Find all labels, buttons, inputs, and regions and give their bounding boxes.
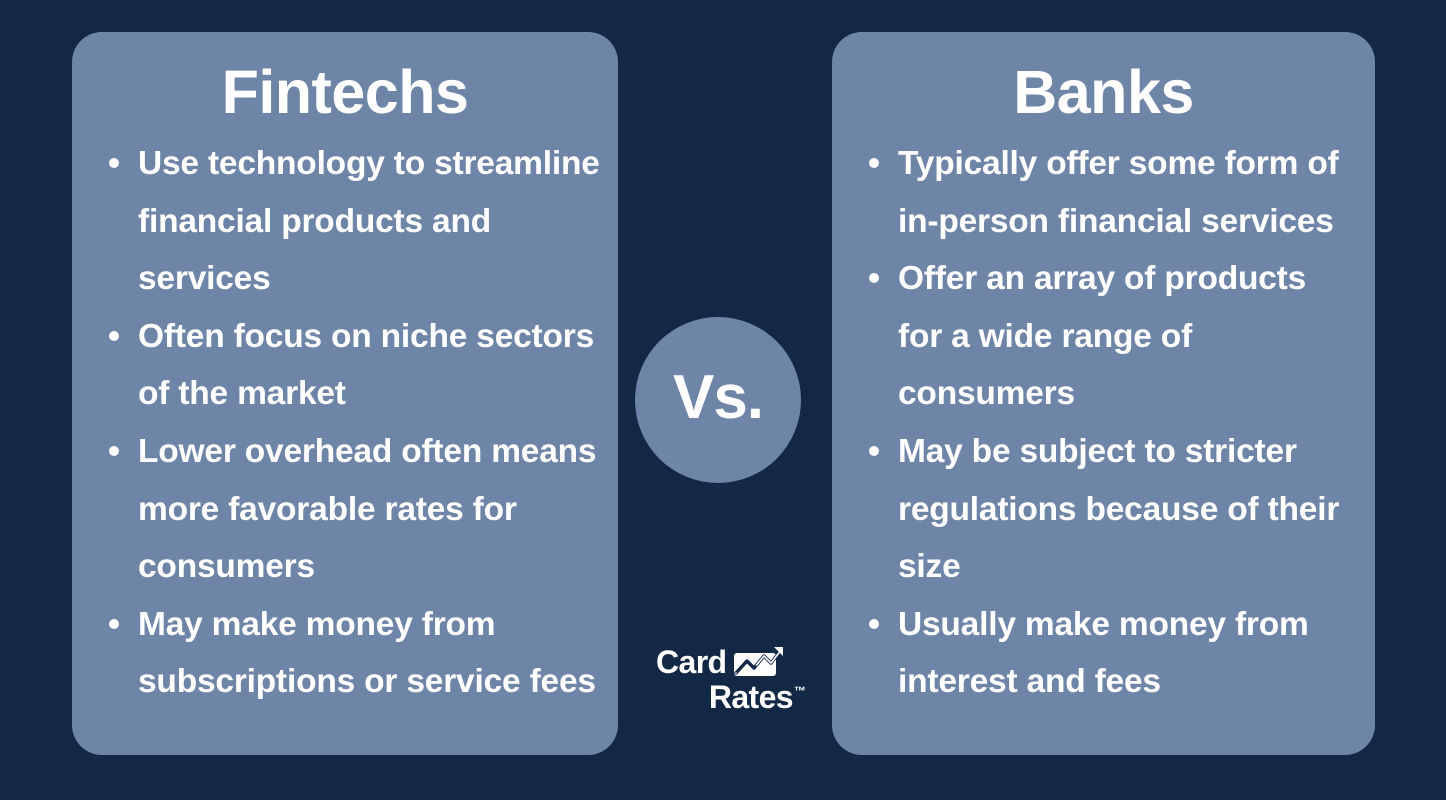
comparison-card-fintechs: Fintechs Use technology to streamline fi… xyxy=(72,32,618,755)
bullet-dot-icon xyxy=(869,619,879,629)
list-item-label: Lower overhead often means more favorabl… xyxy=(138,433,596,585)
chart-uptrend-icon xyxy=(733,645,785,679)
list-item-label: Use technology to streamline financial p… xyxy=(138,145,600,297)
bullet-dot-icon xyxy=(869,446,879,456)
logo-line-top: Card xyxy=(656,645,806,679)
list-item: Use technology to streamline financial p… xyxy=(90,135,600,308)
bullet-dot-icon xyxy=(109,158,119,168)
list-item-label: Typically offer some form of in-person f… xyxy=(898,145,1339,240)
list-item-label: May make money from subscriptions or ser… xyxy=(138,606,596,701)
list-item: May be subject to stricter regulations b… xyxy=(850,423,1357,596)
list-item: Lower overhead often means more favorabl… xyxy=(90,423,600,596)
bullet-list-fintechs: Use technology to streamline financial p… xyxy=(90,135,600,711)
bullet-dot-icon xyxy=(109,619,119,629)
bullet-dot-icon xyxy=(869,273,879,283)
bullet-dot-icon xyxy=(109,446,119,456)
versus-label: Vs. xyxy=(673,367,763,429)
bullet-list-banks: Typically offer some form of in-person f… xyxy=(850,135,1357,711)
list-item: May make money from subscriptions or ser… xyxy=(90,596,600,711)
card-title-banks: Banks xyxy=(850,62,1357,123)
list-item-label: Offer an array of products for a wide ra… xyxy=(898,260,1306,412)
logo-line-bottom: Rates ™ xyxy=(656,681,806,713)
list-item: Usually make money from interest and fee… xyxy=(850,596,1357,711)
versus-badge: Vs. xyxy=(635,317,801,483)
list-item-label: Usually make money from interest and fee… xyxy=(898,606,1309,701)
cardrates-logo: Card Rates ™ xyxy=(656,645,806,713)
logo-word-rates: Rates xyxy=(709,681,793,713)
logo-word-card: Card xyxy=(656,646,727,678)
card-title-fintechs: Fintechs xyxy=(90,62,600,123)
bullet-dot-icon xyxy=(869,158,879,168)
trademark-symbol: ™ xyxy=(794,685,806,697)
infographic-canvas: Fintechs Use technology to streamline fi… xyxy=(0,0,1446,800)
list-item: Typically offer some form of in-person f… xyxy=(850,135,1357,250)
comparison-card-banks: Banks Typically offer some form of in-pe… xyxy=(832,32,1375,755)
list-item-label: Often focus on niche sectors of the mark… xyxy=(138,318,594,413)
list-item-label: May be subject to stricter regulations b… xyxy=(898,433,1339,585)
bullet-dot-icon xyxy=(109,331,119,341)
list-item: Often focus on niche sectors of the mark… xyxy=(90,308,600,423)
list-item: Offer an array of products for a wide ra… xyxy=(850,250,1357,423)
